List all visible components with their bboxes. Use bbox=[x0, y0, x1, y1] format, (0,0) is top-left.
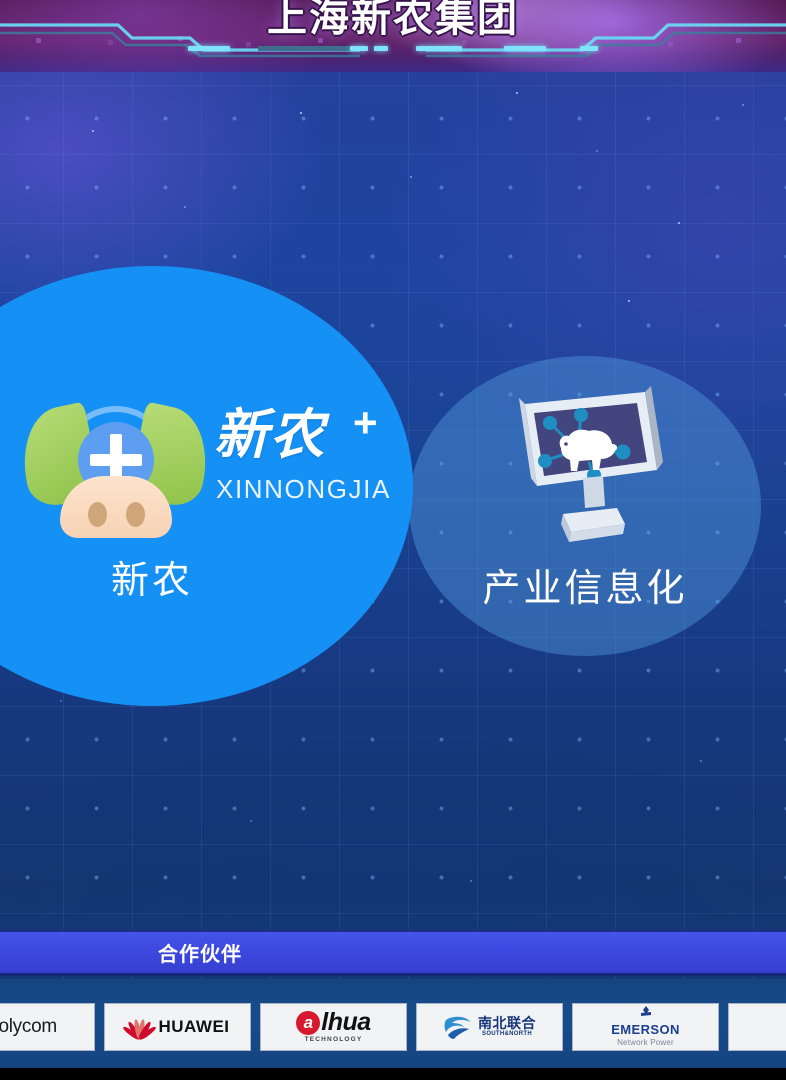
bottom-black-bar bbox=[0, 1068, 786, 1080]
emerson-wordmark: EMERSON bbox=[611, 1023, 680, 1038]
partners-title: 合作伙伴 bbox=[0, 941, 400, 969]
southnorth-name-cn: 南北联合 bbox=[478, 1016, 536, 1031]
brand-name-en: XINNONGJIA bbox=[216, 474, 391, 504]
pig-nostril-left bbox=[88, 502, 107, 527]
partner-logo-globe[interactable] bbox=[728, 1003, 786, 1051]
partner-logo-huawei[interactable]: HUAWEI bbox=[104, 1003, 251, 1051]
partner-logo-dahua[interactable]: a lhua TECHNOLOGY bbox=[260, 1003, 407, 1051]
partners-title-band: 合作伙伴 bbox=[0, 930, 786, 976]
huawei-flower-logo-icon bbox=[126, 1015, 152, 1039]
polycom-wordmark: Polycom bbox=[0, 1016, 57, 1038]
brand-plus-mark: + bbox=[353, 402, 378, 444]
partner-logo-polycom[interactable]: Polycom bbox=[0, 1003, 95, 1051]
emerson-logo-icon bbox=[638, 1006, 654, 1022]
pig-leaf-medical-logo-icon bbox=[18, 398, 213, 538]
monitor-pig-network-icon bbox=[507, 382, 677, 560]
dashboard-screen: 上海新农集团 新农 + XINNONGJIA 新农 bbox=[0, 0, 786, 1080]
emerson-tagline: Network Power bbox=[617, 1038, 674, 1047]
brand-name-cn: 新农 bbox=[214, 404, 326, 466]
pig-nostril-right bbox=[126, 502, 145, 527]
partner-logo-emerson[interactable]: EMERSON Network Power bbox=[572, 1003, 719, 1051]
page-title: 上海新农集团 bbox=[0, 0, 786, 42]
dahua-a-badge-icon: a bbox=[296, 1011, 320, 1035]
app-header: 上海新农集团 bbox=[0, 0, 786, 72]
dahua-wordmark: lhua bbox=[321, 1010, 370, 1035]
xinnong-brand-block: 新农 + XINNONGJIA bbox=[8, 392, 408, 542]
cross-horizontal-bar bbox=[90, 454, 142, 466]
circle-label-xinnong: 新农 bbox=[0, 558, 413, 604]
partner-logo-list: Polycom HUAWEI a lhua TECHNOLOGY bbox=[0, 1003, 786, 1051]
pig-snout-shape bbox=[60, 476, 172, 538]
southnorth-swoosh-logo-icon bbox=[443, 1013, 473, 1041]
huawei-wordmark: HUAWEI bbox=[159, 1017, 230, 1037]
circle-label-industry: 产业信息化 bbox=[409, 566, 761, 612]
dahua-tagline: TECHNOLOGY bbox=[305, 1037, 363, 1044]
header-dash-marks bbox=[0, 46, 786, 56]
partner-logo-southnorth[interactable]: 南北联合 SOUTH&NORTH bbox=[416, 1003, 563, 1051]
southnorth-name-en: SOUTH&NORTH bbox=[482, 1031, 532, 1038]
